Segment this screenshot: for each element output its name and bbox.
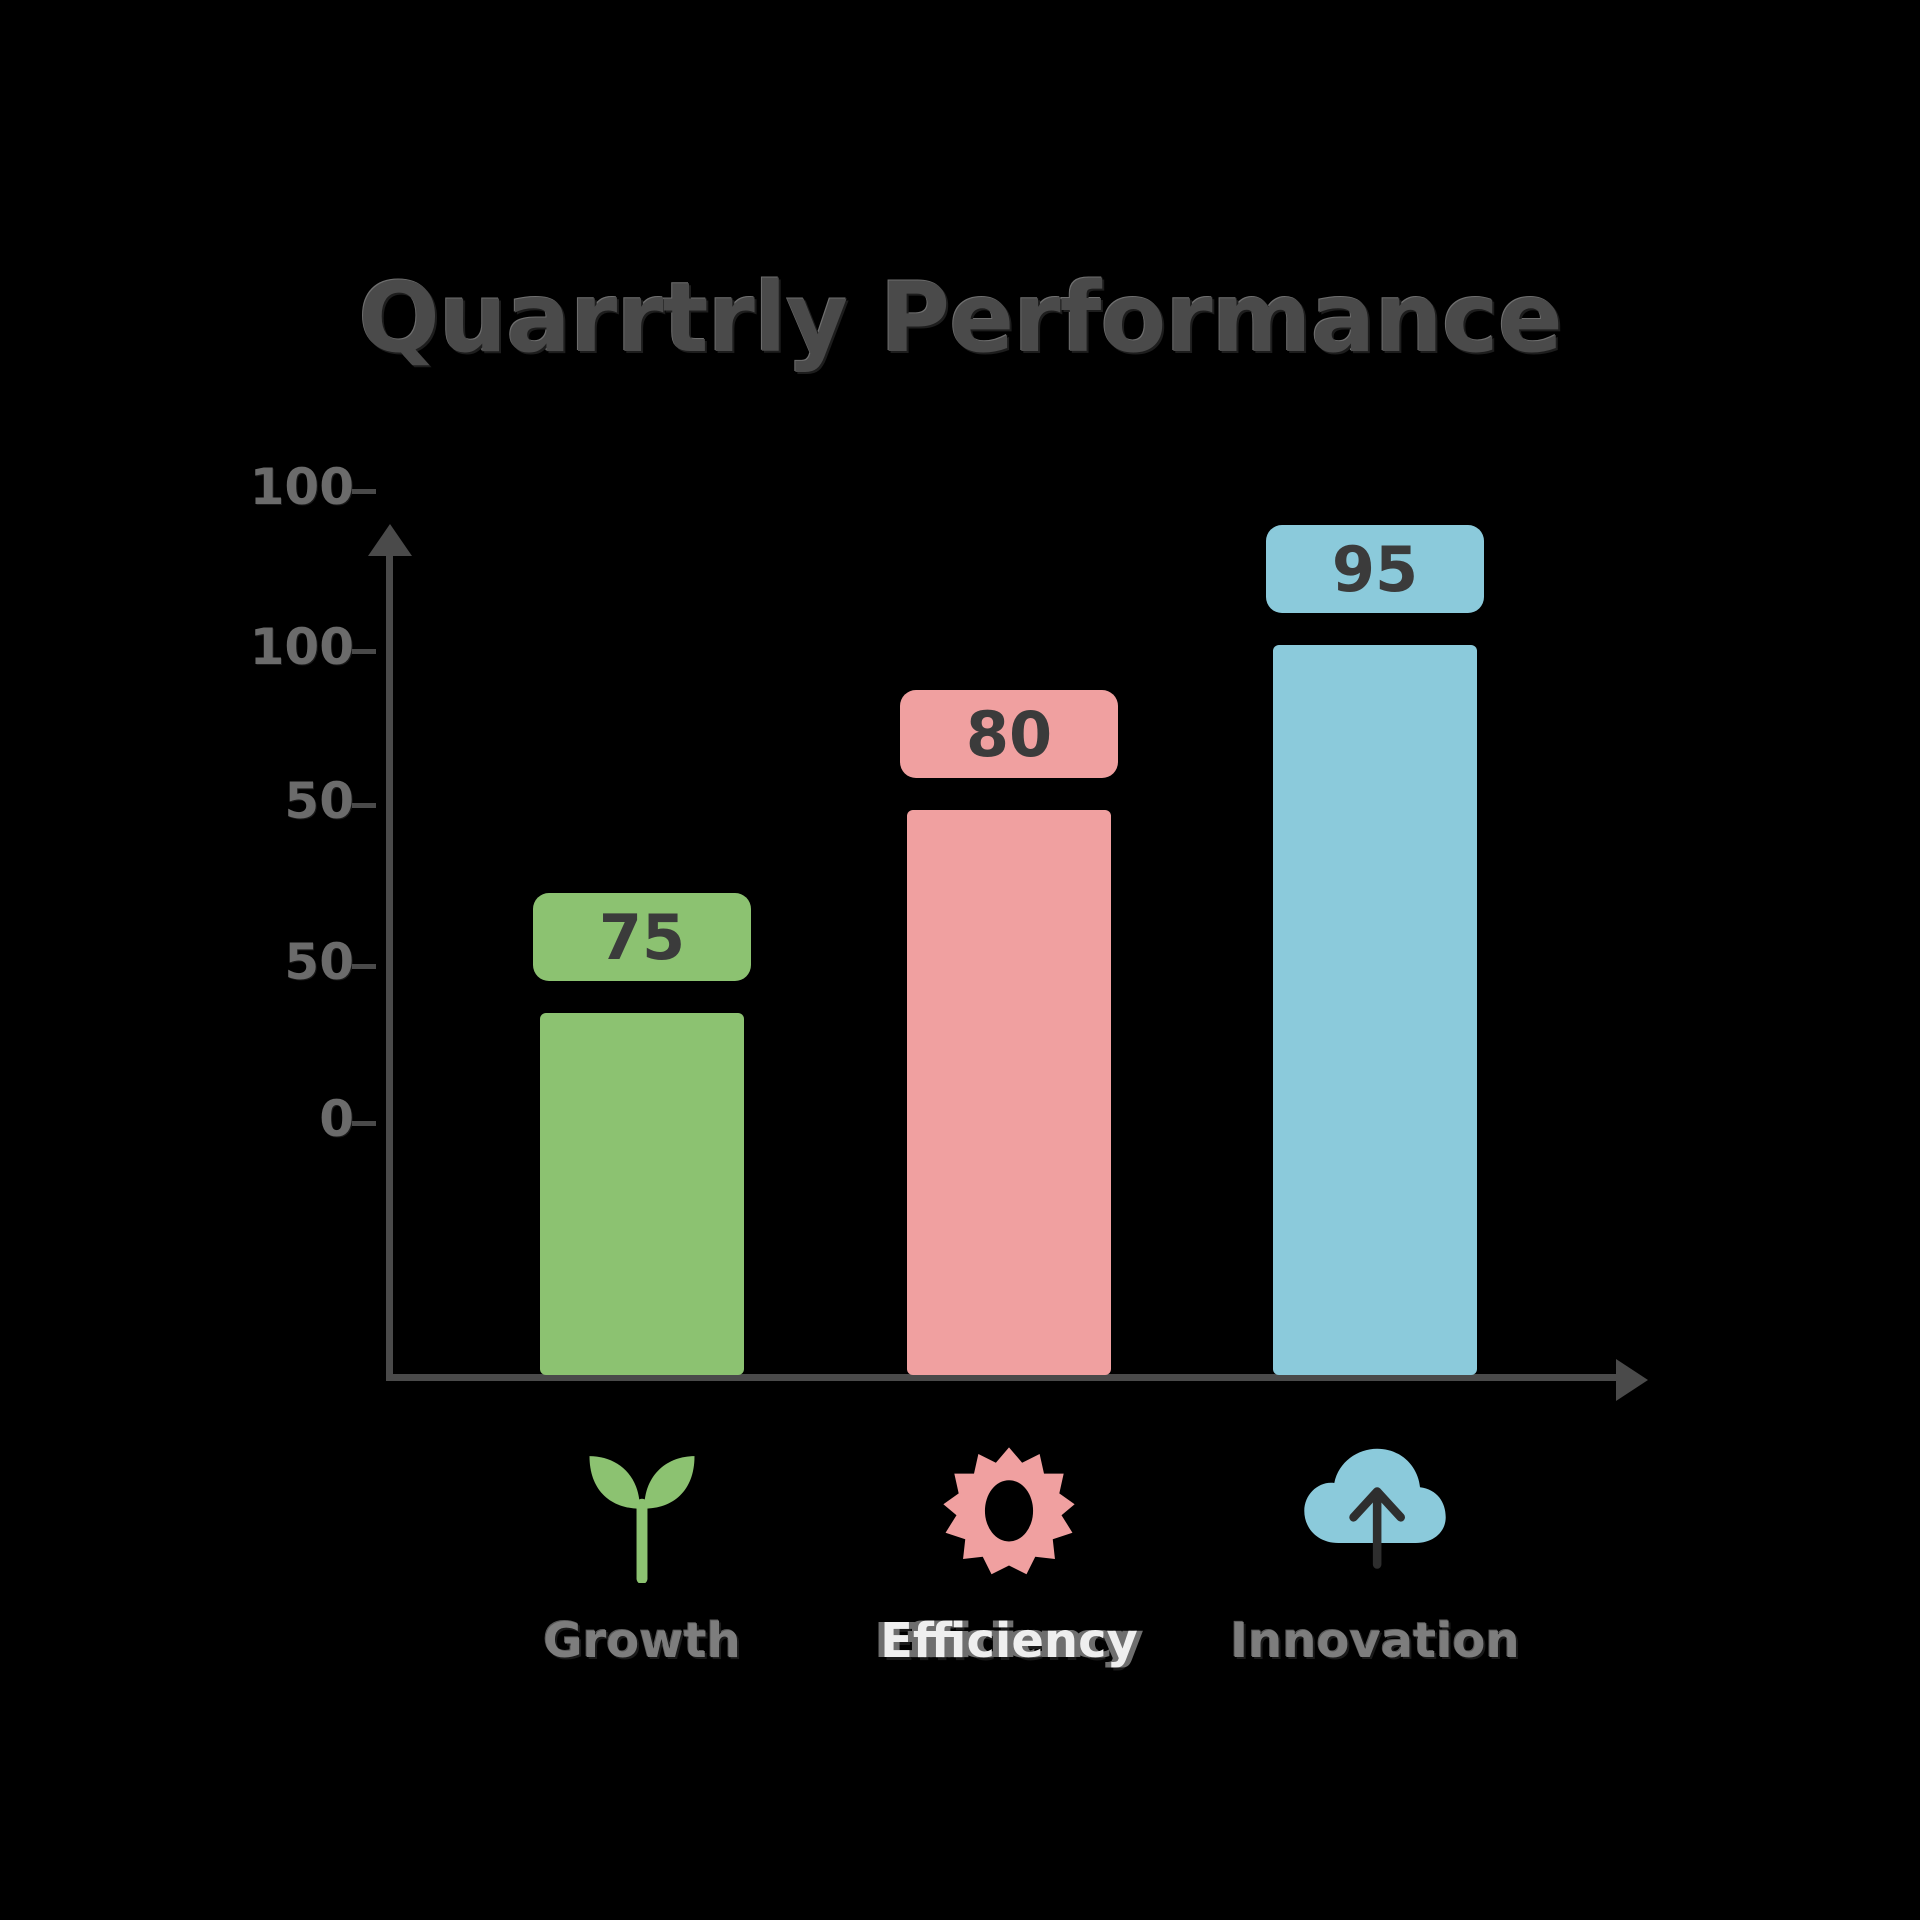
y-tick-label-3: 50: [284, 933, 354, 991]
x-axis-line: [386, 1374, 1624, 1381]
page-title: Quarrtrly Performance: [0, 262, 1920, 374]
category-label-efficiency: Efficiency: [859, 1613, 1159, 1669]
y-tick-label-4: 0: [319, 1090, 354, 1148]
y-tick-mark-1: [352, 649, 376, 654]
bar-innovation[interactable]: [1273, 645, 1477, 1375]
bar-growth[interactable]: [540, 1013, 744, 1375]
cloud-upload-icon: [1225, 1440, 1525, 1585]
sprout-icon: [492, 1440, 792, 1585]
category-label-innovation: Innovation: [1225, 1613, 1525, 1669]
x-axis-arrow-icon: [1616, 1359, 1648, 1401]
category-innovation[interactable]: Innovation: [1225, 1440, 1525, 1669]
gear-icon: [859, 1440, 1159, 1585]
y-tick-mark-2: [352, 803, 376, 808]
category-label-growth: Growth: [492, 1613, 792, 1669]
bar-value-chip-efficiency: 80: [900, 690, 1118, 778]
y-tick-label-0: 100: [250, 458, 354, 516]
y-tick-mark-3: [352, 964, 376, 969]
category-efficiency[interactable]: Efficiency: [859, 1440, 1159, 1669]
category-growth[interactable]: Growth: [492, 1440, 792, 1669]
y-axis-line: [386, 545, 393, 1381]
y-tick-mark-0: [352, 489, 376, 494]
bar-efficiency[interactable]: [907, 810, 1111, 1375]
chart-canvas: Quarrtrly Performance 100 100 50 50 0 75…: [0, 0, 1920, 1920]
y-tick-label-1: 100: [250, 618, 354, 676]
bar-value-chip-innovation: 95: [1266, 525, 1484, 613]
bar-value-chip-growth: 75: [533, 893, 751, 981]
y-tick-mark-4: [352, 1121, 376, 1126]
y-tick-label-2: 50: [284, 772, 354, 830]
y-axis-arrow-icon: [368, 524, 412, 556]
